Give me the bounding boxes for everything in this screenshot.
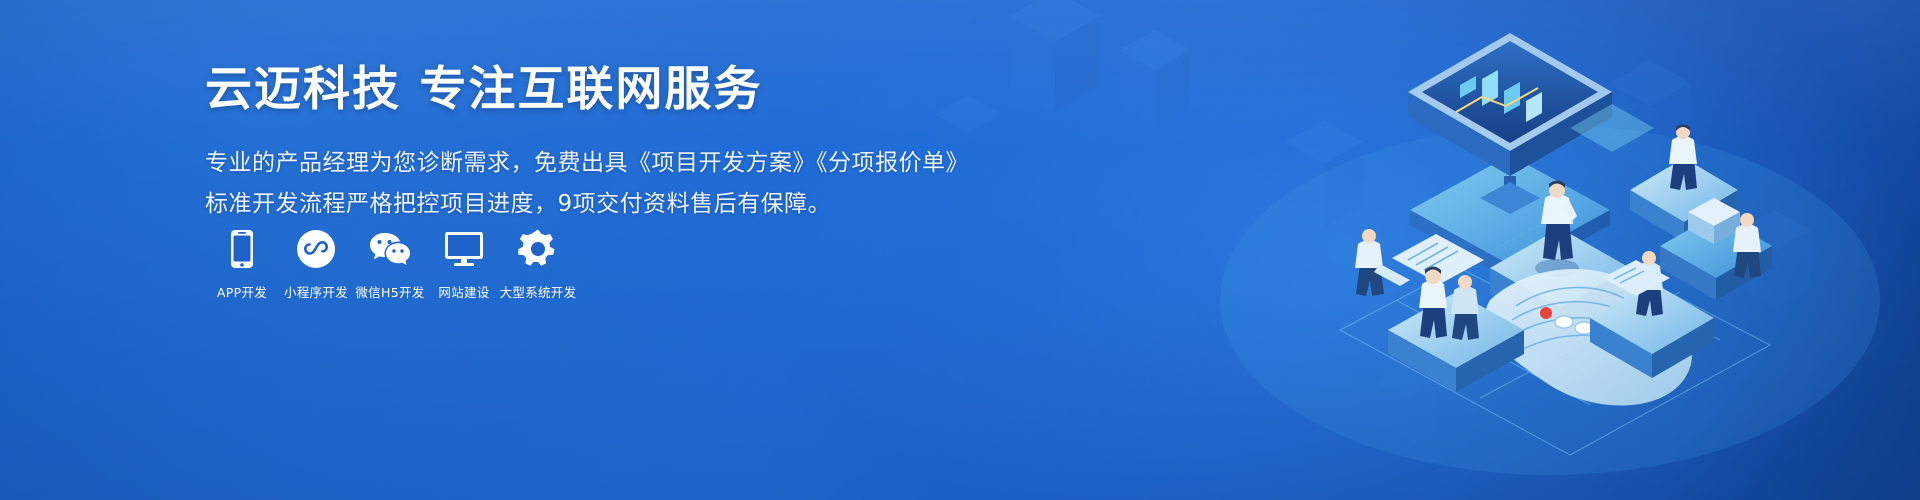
promo-banner: 云迈科技 专注互联网服务 专业的产品经理为您诊断需求，免费出具《项目开发方案》《… bbox=[0, 0, 1920, 500]
mobile-phone-icon bbox=[230, 228, 254, 270]
service-label: APP开发 bbox=[217, 282, 267, 301]
service-item-system[interactable]: 大型系统开发 bbox=[501, 228, 575, 301]
service-item-website[interactable]: 网站建设 bbox=[427, 228, 501, 301]
decor-cube-1 bbox=[1010, 0, 1100, 140]
service-label: 微信H5开发 bbox=[355, 282, 424, 301]
service-item-wechat[interactable]: 微信H5开发 bbox=[353, 228, 427, 301]
service-label: 网站建设 bbox=[438, 282, 489, 301]
banner-subtitle-line1: 专业的产品经理为您诊断需求，免费出具《项目开发方案》《分项报价单》 bbox=[205, 143, 969, 183]
hero-illustration bbox=[1160, 0, 1920, 500]
banner-subtitle-line2: 标准开发流程严格把控项目进度，9项交付资料售后有保障。 bbox=[205, 184, 969, 224]
gear-icon bbox=[518, 228, 558, 270]
wechat-icon bbox=[368, 228, 412, 270]
service-item-app[interactable]: APP开发 bbox=[205, 228, 279, 301]
service-label: 大型系统开发 bbox=[500, 282, 577, 301]
banner-title: 云迈科技 专注互联网服务 bbox=[205, 62, 969, 117]
banner-subtitle: 专业的产品经理为您诊断需求，免费出具《项目开发方案》《分项报价单》 标准开发流程… bbox=[205, 143, 969, 224]
isometric-scene bbox=[1160, 0, 1920, 500]
monitor-icon bbox=[444, 228, 484, 270]
service-label: 小程序开发 bbox=[284, 282, 348, 301]
service-list: APP开发 小程序开发 微信 bbox=[205, 228, 575, 301]
service-item-miniprogram[interactable]: 小程序开发 bbox=[279, 228, 353, 301]
banner-content: 云迈科技 专注互联网服务 专业的产品经理为您诊断需求，免费出具《项目开发方案》《… bbox=[205, 62, 969, 224]
mini-program-icon bbox=[296, 228, 336, 270]
